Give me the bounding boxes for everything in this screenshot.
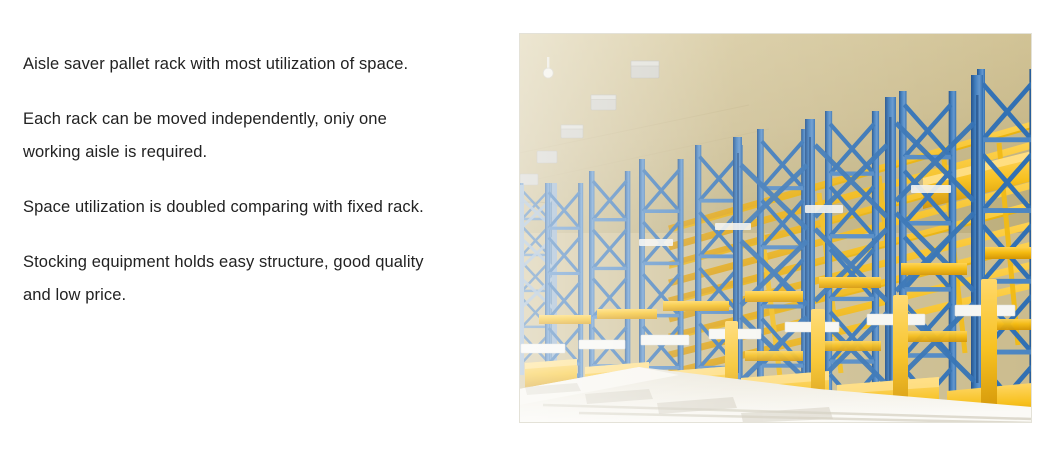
description-paragraph-2: Each rack can be moved independently, on… [23,103,503,169]
product-photo-warehouse-racking [519,33,1032,423]
description-paragraph-4: Stocking equipment holds easy structure,… [23,246,503,312]
description-text-column: Aisle saver pallet rack with most utiliz… [23,48,503,312]
warehouse-racking-illustration [519,33,1032,423]
description-paragraph-1: Aisle saver pallet rack with most utiliz… [23,48,503,81]
description-paragraph-3: Space utilization is doubled comparing w… [23,191,503,224]
page-root: Aisle saver pallet rack with most utiliz… [0,0,1050,454]
